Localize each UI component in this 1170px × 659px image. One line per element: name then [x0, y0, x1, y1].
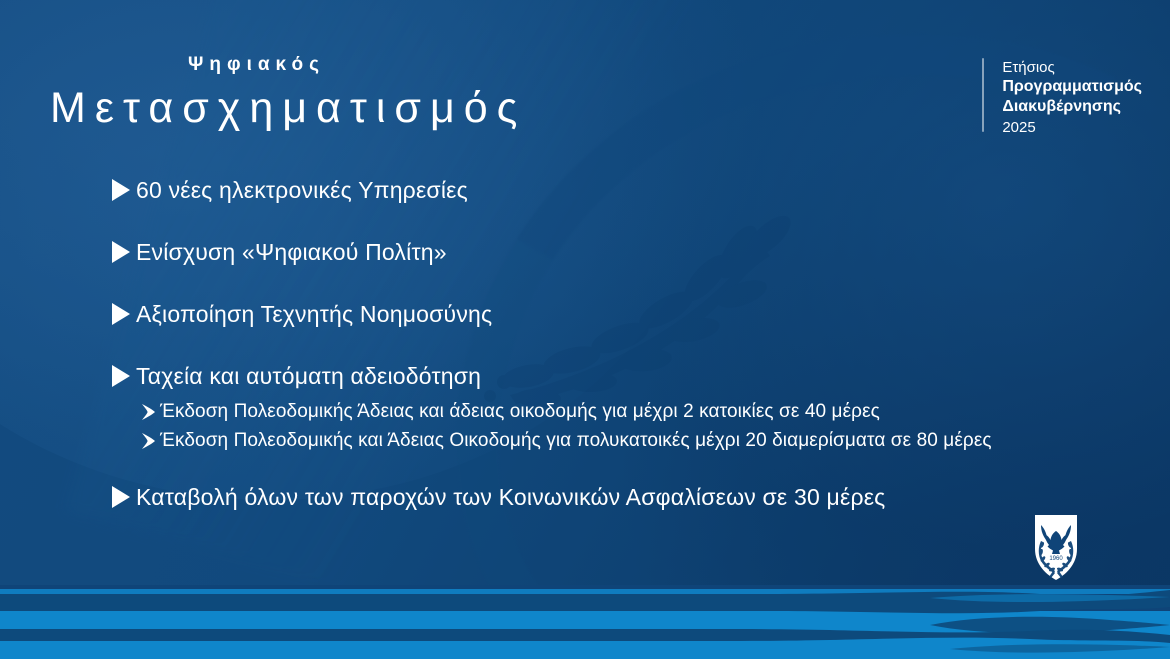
slide-root: Ψηφιακός Μετασχηματισμός Ετήσιος Προγραμ… [0, 0, 1170, 659]
title-block: Ψηφιακός Μετασχηματισμός [50, 55, 526, 132]
bullet-group: Ενίσχυση «Ψηφιακού Πολίτη» [112, 238, 1140, 266]
list-item: Καταβολή όλων των παροχών των Κοινωνικών… [112, 483, 1140, 511]
triangle-right-icon [112, 486, 130, 508]
sub-list: Έκδοση Πολεοδομικής Άδειας και άδειας οι… [140, 400, 1140, 453]
list-item-label: Καταβολή όλων των παροχών των Κοινωνικών… [136, 483, 885, 511]
vertical-divider [982, 58, 984, 132]
list-item: 60 νέες ηλεκτρονικές Υπηρεσίες [112, 176, 1140, 204]
emblem-year: 1960 [1049, 556, 1063, 562]
list-item-label: Ταχεία και αυτόματη αδειοδότηση [136, 362, 481, 390]
bullet-group: 60 νέες ηλεκτρονικές Υπηρεσίες [112, 176, 1140, 204]
title-kicker: Ψηφιακός [188, 55, 526, 74]
corner-line-3: Διακυβέρνησης [1002, 97, 1142, 117]
corner-branding: Ετήσιος Προγραμματισμός Διακυβέρνησης 20… [982, 58, 1142, 137]
wave-decoration [0, 585, 1170, 659]
list-item: Ενίσχυση «Ψηφιακού Πολίτη» [112, 238, 1140, 266]
triangle-right-icon [112, 303, 130, 325]
page-title: Μετασχηματισμός [50, 84, 526, 132]
list-item: Ταχεία και αυτόματη αδειοδότηση [112, 362, 1140, 390]
bullet-group: Αξιοποίηση Τεχνητής Νοημοσύνης [112, 300, 1140, 328]
corner-text-lines: Ετήσιος Προγραμματισμός Διακυβέρνησης 20… [1002, 58, 1142, 137]
triangle-right-icon [112, 365, 130, 387]
corner-year: 2025 [1002, 117, 1142, 137]
list-item-label: 60 νέες ηλεκτρονικές Υπηρεσίες [136, 176, 468, 204]
sub-list-item: Έκδοση Πολεοδομικής Άδειας και άδειας οι… [140, 400, 1140, 424]
list-item-label: Αξιοποίηση Τεχνητής Νοημοσύνης [136, 300, 492, 328]
triangle-right-icon [112, 241, 130, 263]
chevron-right-icon [140, 403, 156, 421]
triangle-right-icon [112, 179, 130, 201]
list-item-label: Ενίσχυση «Ψηφιακού Πολίτη» [136, 238, 447, 266]
chevron-right-icon [140, 432, 156, 450]
sub-list-item: Έκδοση Πολεοδομικής και Άδειας Οικοδομής… [140, 429, 1140, 453]
bullet-group: Καταβολή όλων των παροχών των Κοινωνικών… [112, 483, 1140, 511]
cyprus-coat-of-arms-icon: 1960 [1027, 509, 1085, 585]
sub-list-item-label: Έκδοση Πολεοδομικής και Άδειας Οικοδομής… [160, 429, 992, 453]
corner-line-1: Ετήσιος [1002, 58, 1142, 77]
list-item: Αξιοποίηση Τεχνητής Νοημοσύνης [112, 300, 1140, 328]
bullet-list: 60 νέες ηλεκτρονικές Υπηρεσίες Ενίσχυση … [112, 176, 1140, 545]
bullet-group-with-subitems: Ταχεία και αυτόματη αδειοδότηση Έκδοση Π… [112, 362, 1140, 453]
sub-list-item-label: Έκδοση Πολεοδομικής Άδειας και άδειας οι… [160, 400, 880, 424]
corner-line-2: Προγραμματισμός [1002, 77, 1142, 97]
